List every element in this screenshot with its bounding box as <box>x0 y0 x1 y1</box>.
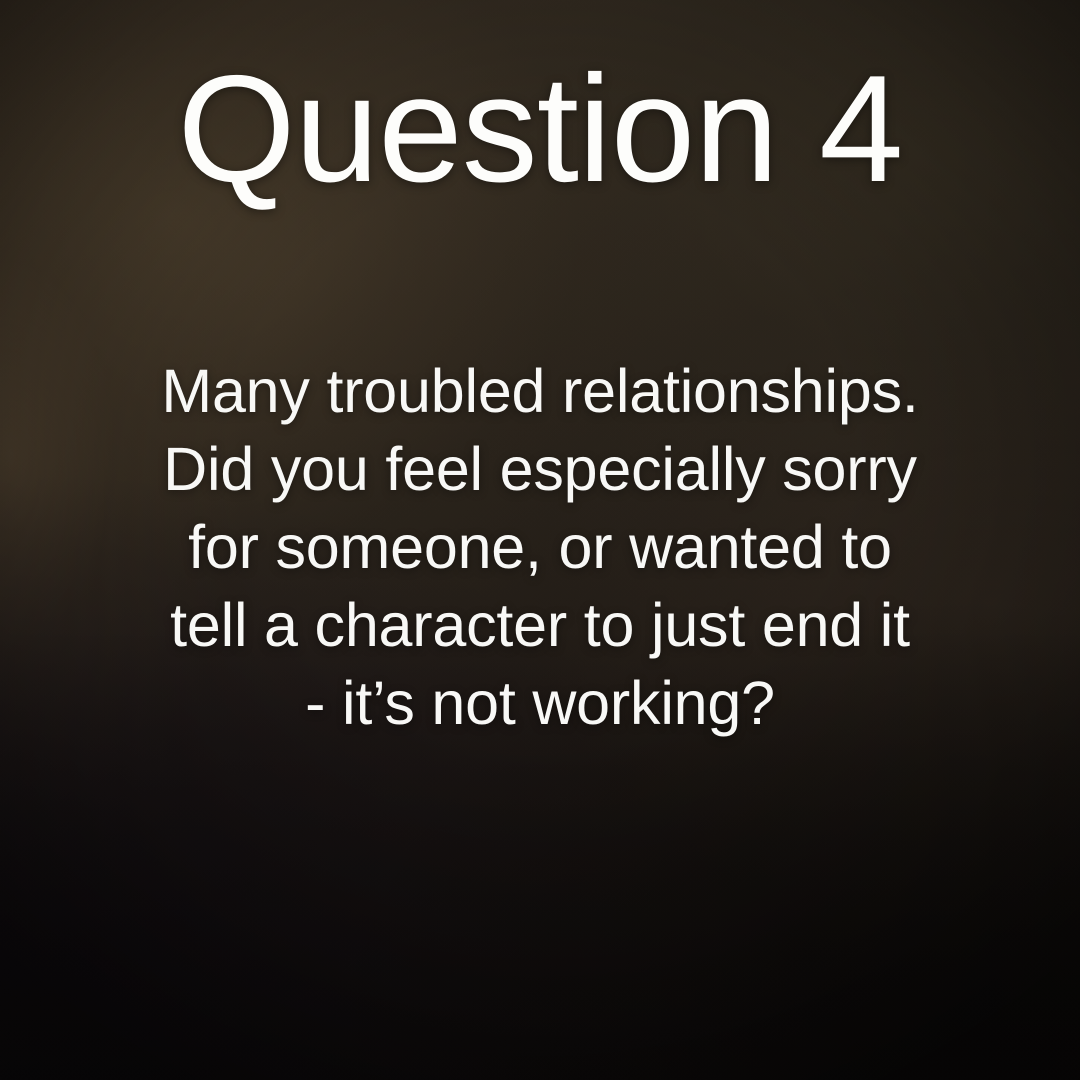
body-line: tell a character to just end it <box>72 586 1008 664</box>
body-line: for someone, or wanted to <box>72 508 1008 586</box>
body-line: Many troubled relationships. <box>72 352 1008 430</box>
body-line: - it’s not working? <box>72 664 1008 742</box>
body-line: Did you feel especially sorry <box>72 430 1008 508</box>
slide-title: Question 4 <box>0 53 1080 205</box>
slide-content: Question 4 Many troubled relationships. … <box>0 0 1080 1080</box>
slide-body-text: Many troubled relationships. Did you fee… <box>72 352 1008 742</box>
question-slide: Question 4 Many troubled relationships. … <box>0 0 1080 1080</box>
